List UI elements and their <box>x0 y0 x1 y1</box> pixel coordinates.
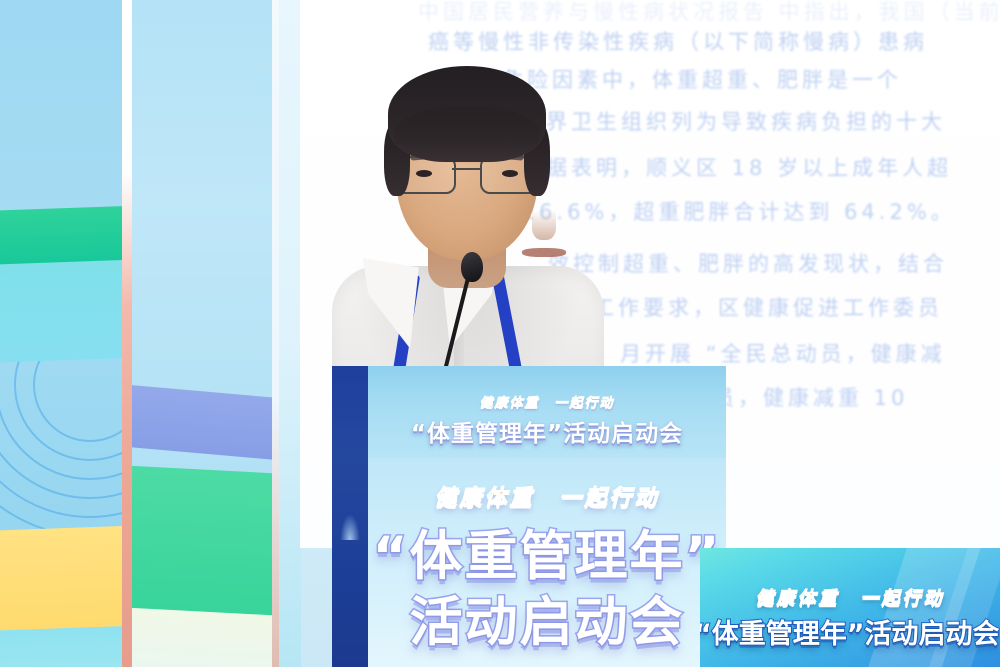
podium-front-panel: 健康体重 一起行动 “体重管理年” 活动启动会 <box>368 458 726 667</box>
band-cyan-lower <box>0 625 122 667</box>
panel-seam-left <box>122 0 132 667</box>
screenshot-stage: 中国居民营养与慢性病状况报告 中指出，我国（当前形势） 癌等慢性非传染性疾病（以… <box>0 0 1000 667</box>
slide-line-9: 2 月开展 “全民总动员，健康减 <box>592 338 946 368</box>
backdrop-panel-mid <box>132 0 272 667</box>
mouth <box>522 248 566 257</box>
band-cyan <box>0 259 122 362</box>
podium-front-title-line2: 活动启动会 <box>368 580 726 656</box>
band-pale <box>132 607 272 667</box>
banner-title: “体重管理年”活动启动会 <box>700 612 994 651</box>
speaker-figure <box>318 60 618 390</box>
podium-front-title-line1: “体重管理年” <box>368 514 726 590</box>
slide-line-2: 癌等慢性非传染性疾病（以下简称慢病）患病 <box>428 26 928 56</box>
glasses-bridge <box>452 168 482 170</box>
eye-right <box>502 170 518 177</box>
podium: 健康体重 一起行动 “体重管理年”活动启动会 健康体重 一起行动 “体重管理年”… <box>332 366 726 667</box>
corner-banner: 健康体重 一起行动 “体重管理年”活动启动会 <box>700 548 1000 667</box>
podium-plaque-title: “体重管理年”活动启动会 <box>368 414 726 448</box>
band-purple <box>132 383 272 463</box>
slide-line-8: 建工作要求，区健康促进工作委员 <box>568 292 943 322</box>
podium-side-glow <box>340 514 360 540</box>
speaker-hair <box>388 66 546 162</box>
podium-top-plaque: 健康体重 一起行动 “体重管理年”活动启动会 <box>368 366 726 458</box>
slide-line-1: 中国居民营养与慢性病状况报告 中指出，我国（当前形势） <box>418 0 1000 26</box>
panel-seam-mid <box>272 0 279 667</box>
podium-side-panel <box>332 366 368 667</box>
nose <box>532 210 556 240</box>
podium-plaque-subtitle: 健康体重 一起行动 <box>368 392 726 411</box>
podium-front-subtitle: 健康体重 一起行动 <box>368 480 726 512</box>
backdrop-panel-strip <box>279 0 301 667</box>
eye-left <box>416 170 432 177</box>
banner-subtitle: 健康体重 一起行动 <box>700 584 1000 610</box>
microphone-icon <box>461 252 483 282</box>
band-green-mid <box>132 465 272 626</box>
backdrop-panel-left <box>0 0 122 667</box>
